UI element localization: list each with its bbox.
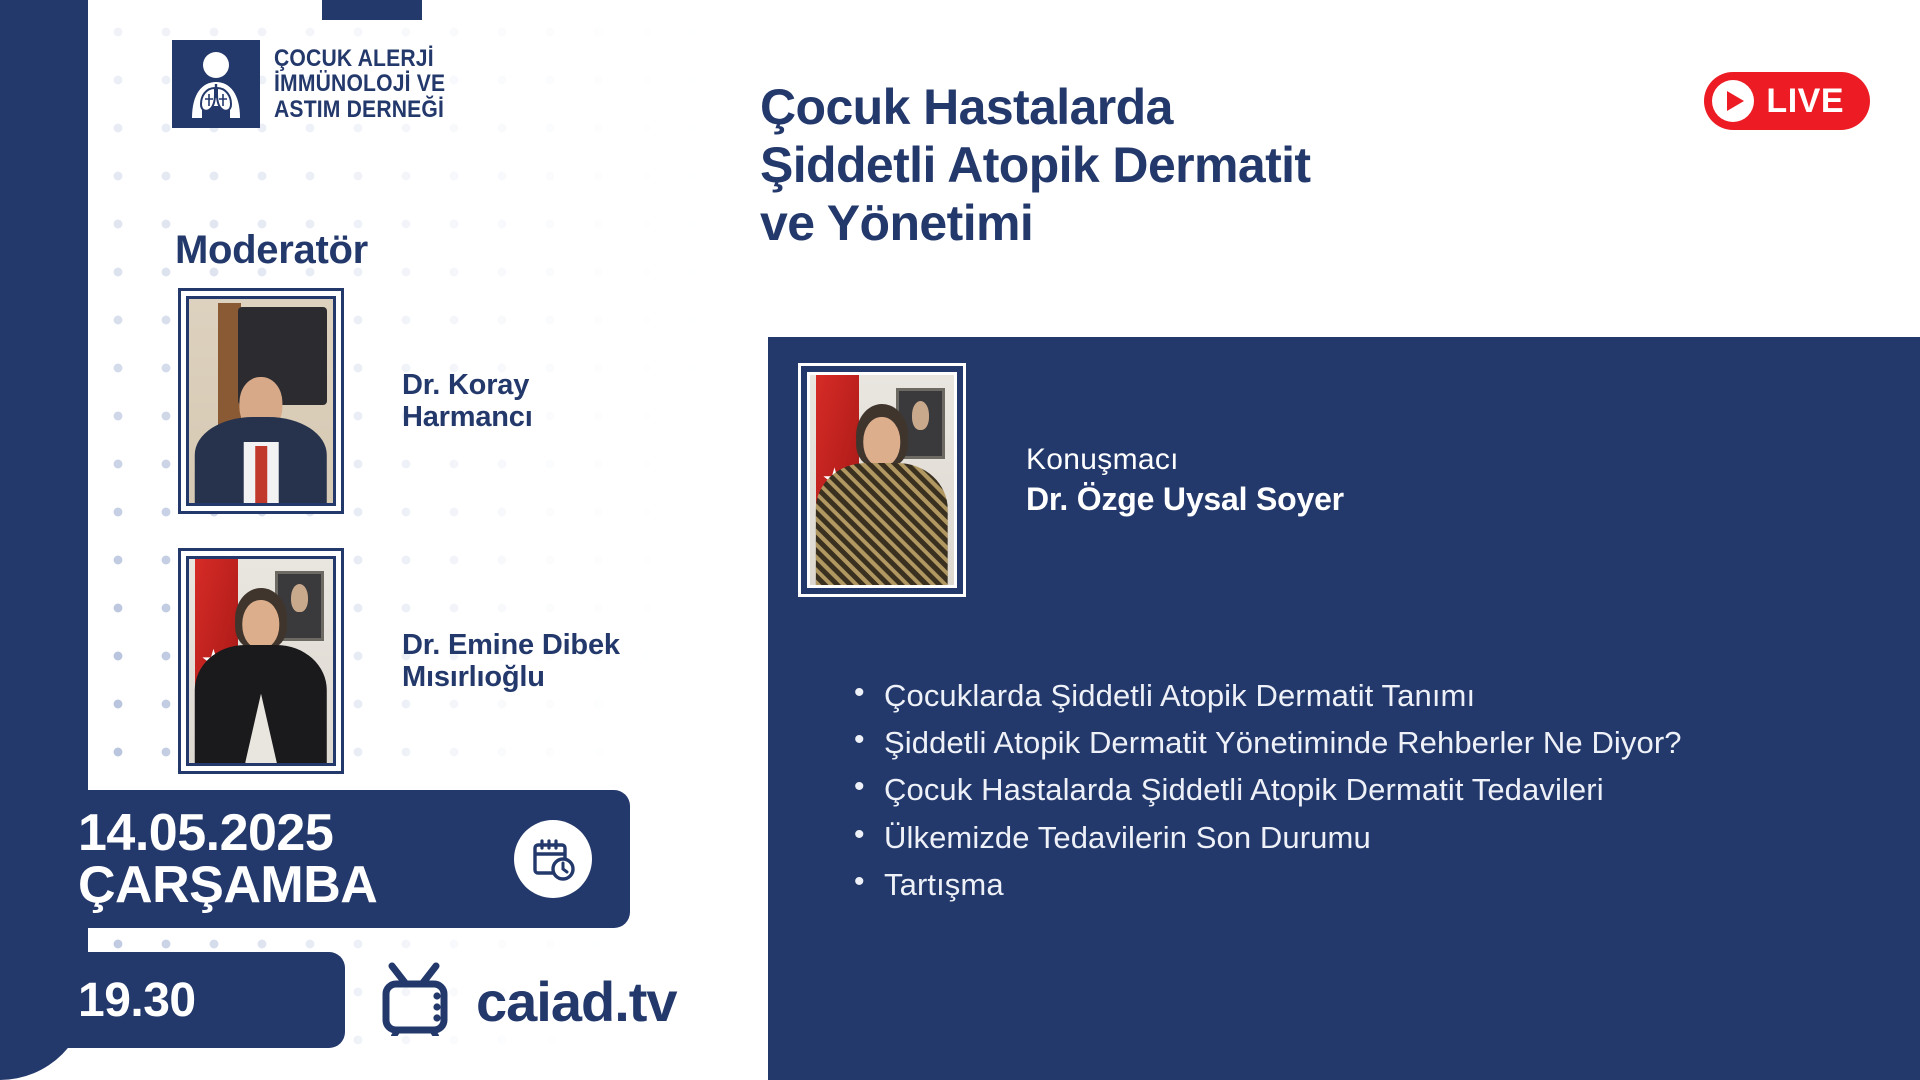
moderator-1-name-line2: Harmancı [402,401,533,433]
calendar-clock-icon [514,820,592,898]
moderator-1-name: Dr. Koray Harmancı [402,369,533,434]
speaker-role: Konuşmacı [1026,443,1344,477]
content-panel: Konuşmacı Dr. Özge Uysal Soyer Çocuklard… [768,337,1920,1080]
event-time-pill: 19.30 [0,952,345,1048]
agenda-item: Çocuklarda Şiddetli Atopik Dermatit Tanı… [850,675,1870,716]
moderator-2-photo-frame [178,548,344,774]
event-date: 14.05.2025 [78,807,377,859]
agenda-item: Çocuk Hastalarda Şiddetli Atopik Dermati… [850,769,1870,810]
moderator-2: Dr. Emine Dibek Mısırlıoğlu [178,548,620,774]
speaker-block: Konuşmacı Dr. Özge Uysal Soyer [798,363,1344,597]
speaker-name: Dr. Özge Uysal Soyer [1026,481,1344,518]
title-line-1: Çocuk Hastalarda [760,78,1590,136]
channel-row[interactable]: caiad.tv [380,962,677,1041]
speaker-photo-frame [798,363,966,597]
torso-lungs-icon [172,40,260,128]
event-date-text: 14.05.2025 ÇARŞAMBA [78,807,377,911]
moderator-1: Dr. Koray Harmancı [178,288,533,514]
organization-name: ÇOCUK ALERJİ İMMÜNOLOJİ VE ASTIM DERNEĞİ [274,46,445,122]
play-circle-icon [1712,80,1754,122]
title-line-3: ve Yönetimi [760,194,1590,252]
moderator-2-name-line2: Mısırlıoğlu [402,661,620,693]
television-icon [380,962,466,1041]
logo-line-2: İMMÜNOLOJİ VE [274,71,445,96]
agenda-item: Tartışma [850,864,1870,905]
woman-with-flag-photo [186,556,336,766]
live-label: LIVE [1766,82,1844,121]
logo-line-3: ASTIM DERNEĞİ [274,97,445,122]
agenda-item: Ülkemizde Tedavilerin Son Durumu [850,817,1870,858]
agenda-list: Çocuklarda Şiddetli Atopik Dermatit Tanı… [850,675,1870,911]
speaker-text: Konuşmacı Dr. Özge Uysal Soyer [1026,443,1344,518]
agenda-item: Şiddetli Atopik Dermatit Yönetiminde Reh… [850,722,1870,763]
moderator-2-name-line1: Dr. Emine Dibek [402,629,620,661]
page-title: Çocuk Hastalarda Şiddetli Atopik Dermati… [760,78,1590,252]
event-time: 19.30 [78,973,196,1028]
moderator-heading: Moderatör [175,228,368,273]
channel-url[interactable]: caiad.tv [476,969,677,1034]
poster-canvas: ÇOCUK ALERJİ İMMÜNOLOJİ VE ASTIM DERNEĞİ… [0,0,1920,1080]
logo-line-1: ÇOCUK ALERJİ [274,46,445,71]
title-line-2: Şiddetli Atopik Dermatit [760,136,1590,194]
event-date-pill: 14.05.2025 ÇARŞAMBA [0,790,630,928]
moderator-1-photo-frame [178,288,344,514]
live-badge[interactable]: LIVE [1704,72,1870,130]
moderator-2-name: Dr. Emine Dibek Mısırlıoğlu [402,629,620,694]
man-in-suit-photo [186,296,336,506]
speaker-portrait-photo [807,372,957,588]
moderator-1-name-line1: Dr. Koray [402,369,533,401]
organization-logo: ÇOCUK ALERJİ İMMÜNOLOJİ VE ASTIM DERNEĞİ [172,40,469,128]
event-day: ÇARŞAMBA [78,859,377,911]
